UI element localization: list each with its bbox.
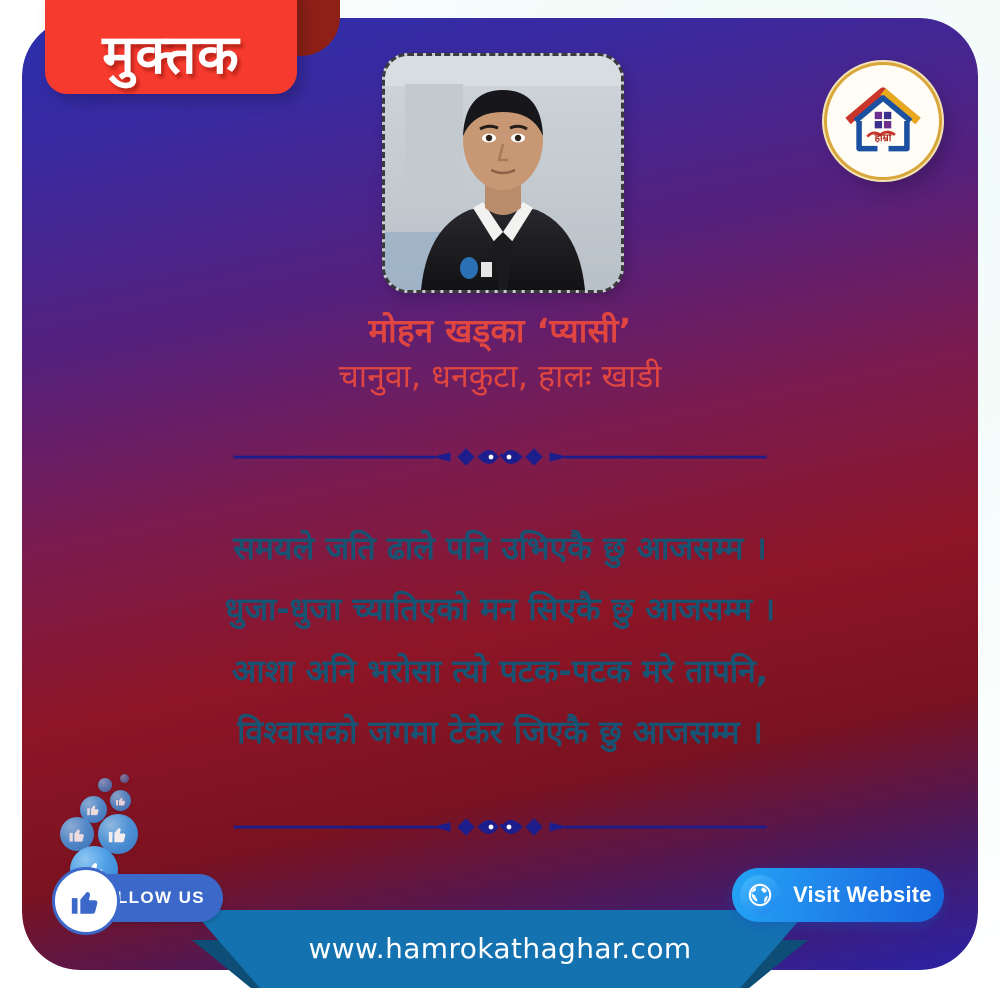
thumbs-up-icon	[68, 825, 87, 844]
ornamental-divider-bottom	[210, 812, 790, 842]
house-logo-icon: हाम्रो	[837, 75, 929, 167]
follow-us-thumb-badge	[52, 867, 120, 935]
thumbs-up-bubble	[110, 790, 131, 811]
poet-info: मोहन खड्का ‘प्यासी’ चानुवा, धनकुटा, हालः…	[0, 310, 1000, 398]
poet-address: चानुवा, धनकुटा, हालः खाडी	[0, 356, 1000, 398]
website-url-label: www.hamrokathaghar.com	[308, 933, 691, 966]
poem-line: समयले जति ढाले पनि उभिएकै छु आजसम्म ।	[0, 518, 1000, 579]
poet-name: मोहन खड्का ‘प्यासी’	[0, 310, 1000, 352]
visit-website-button[interactable]: Visit Website	[732, 868, 944, 922]
follow-us-button[interactable]: FOLLOW US	[58, 874, 223, 922]
thumbs-up-bubble	[120, 774, 129, 783]
poem-line: विश्वासको जगमा टेकेर जिएकै छु आजसम्म ।	[0, 702, 1000, 763]
hamro-kathaghar-logo[interactable]: हाम्रो	[824, 62, 942, 180]
poem-line: आशा अनि भरोसा त्यो पटक-पटक मरे तापनि,	[0, 641, 1000, 702]
poet-portrait	[382, 53, 624, 293]
poem-line: धुजा-धुजा च्यातिएको मन सिएकै छु आजसम्म ।	[0, 579, 1000, 640]
muktak-title-banner: मुक्तक	[45, 0, 297, 94]
svg-text:हाम्रो: हाम्रो	[874, 131, 892, 144]
ornamental-divider-top	[210, 442, 790, 472]
thumbs-up-bubbles	[58, 772, 168, 872]
globe-icon	[740, 875, 780, 915]
poster-canvas: मुक्तक हाम्रो	[0, 0, 1000, 1000]
thumbs-up-bubble	[98, 778, 112, 792]
portrait-image	[385, 56, 621, 290]
follow-us-widget[interactable]: FOLLOW US	[58, 772, 223, 922]
divider-icon	[210, 812, 790, 842]
thumbs-up-icon	[115, 795, 127, 807]
visit-website-label: Visit Website	[793, 882, 932, 908]
website-url-banner[interactable]: www.hamrokathaghar.com	[192, 910, 808, 988]
thumbs-up-icon	[107, 823, 129, 845]
thumbs-up-icon	[69, 884, 103, 918]
muktak-title-label: मुक्तक	[102, 28, 240, 94]
poem-body: समयले जति ढाले पनि उभिएकै छु आजसम्म । धु…	[0, 518, 1000, 764]
divider-icon	[210, 442, 790, 472]
thumbs-up-icon	[86, 802, 101, 817]
